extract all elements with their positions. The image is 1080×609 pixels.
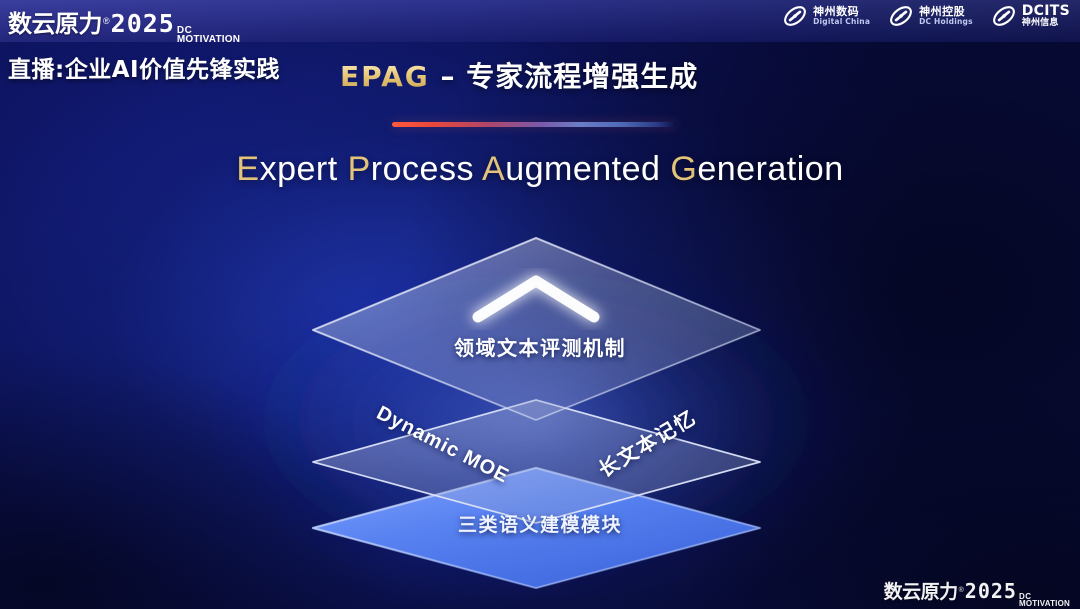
watermark-name-cn: 数云原力 [884,577,958,604]
brand-name-cn: 数云原力 [8,4,102,39]
expansion-cap-0: E [236,150,259,188]
expansion-rest-2: ugmented [505,150,660,188]
corp-name-cn: 神州信息 [1022,19,1070,28]
watermark-motivation-text: MOTIVATION [1019,600,1070,608]
watermark-registered-mark: ® [959,587,964,594]
swirl-galaxy-icon [782,3,808,29]
corp-logo-dc-holdings: 神州控股 DC Holdings [888,3,973,29]
event-brand-logo: 数云原力 ® 2025 DC MOTIVATION [8,4,240,44]
corp-label: DCITS 神州信息 [1022,4,1070,28]
expansion-rest-1: rocess [371,150,474,188]
swirl-galaxy-icon [991,3,1017,29]
title-expansion: Expert Process Augmented Generation [0,150,1080,189]
corp-name-en: DC Holdings [919,18,973,26]
brand-year: 2025 [111,9,175,38]
brand-motivation-text: MOTIVATION [177,35,240,45]
corporate-logo-group: 神州数码 Digital China 神州控股 DC Holdings [782,3,1070,29]
expansion-cap-3: G [670,150,697,188]
corp-logo-digital-china: 神州数码 Digital China [782,3,870,29]
corp-label: 神州控股 DC Holdings [919,6,973,25]
page-title: EPAG – 专家流程增强生成 [340,55,698,95]
title-divider [392,122,677,127]
slide-canvas: 领域文本评测机制 Dynamic MOE 长文本记忆 三类语义建模模块 数云原力… [0,0,1080,609]
expansion-rest-3: eneration [697,150,843,188]
layer-bottom-label: 三类语义建模模块 [0,510,1080,537]
brand-registered-mark: ® [103,16,110,26]
title-acronym: EPAG [340,60,430,93]
live-stream-title: 直播:企业AI价值先锋实践 [8,50,280,84]
watermark-year: 2025 [965,579,1017,603]
corp-name-en: Digital China [813,18,870,26]
corp-logo-dcits: DCITS 神州信息 [991,3,1070,29]
footer-watermark-logo: 数云原力 ® 2025 DC MOTIVATION [884,577,1070,607]
brand-dc-motivation: DC MOTIVATION [177,26,240,45]
swirl-galaxy-icon [888,3,914,29]
corp-label: 神州数码 Digital China [813,6,870,25]
corp-name-en: DCITS [1022,4,1070,19]
expansion-cap-2: A [482,150,505,188]
title-chinese: – 专家流程增强生成 [430,60,699,93]
expansion-rest-0: xpert [260,150,338,188]
watermark-dc-motivation: DC MOTIVATION [1019,593,1070,608]
expansion-cap-1: P [348,150,371,188]
layer-top-label: 领域文本评测机制 [0,332,1080,361]
